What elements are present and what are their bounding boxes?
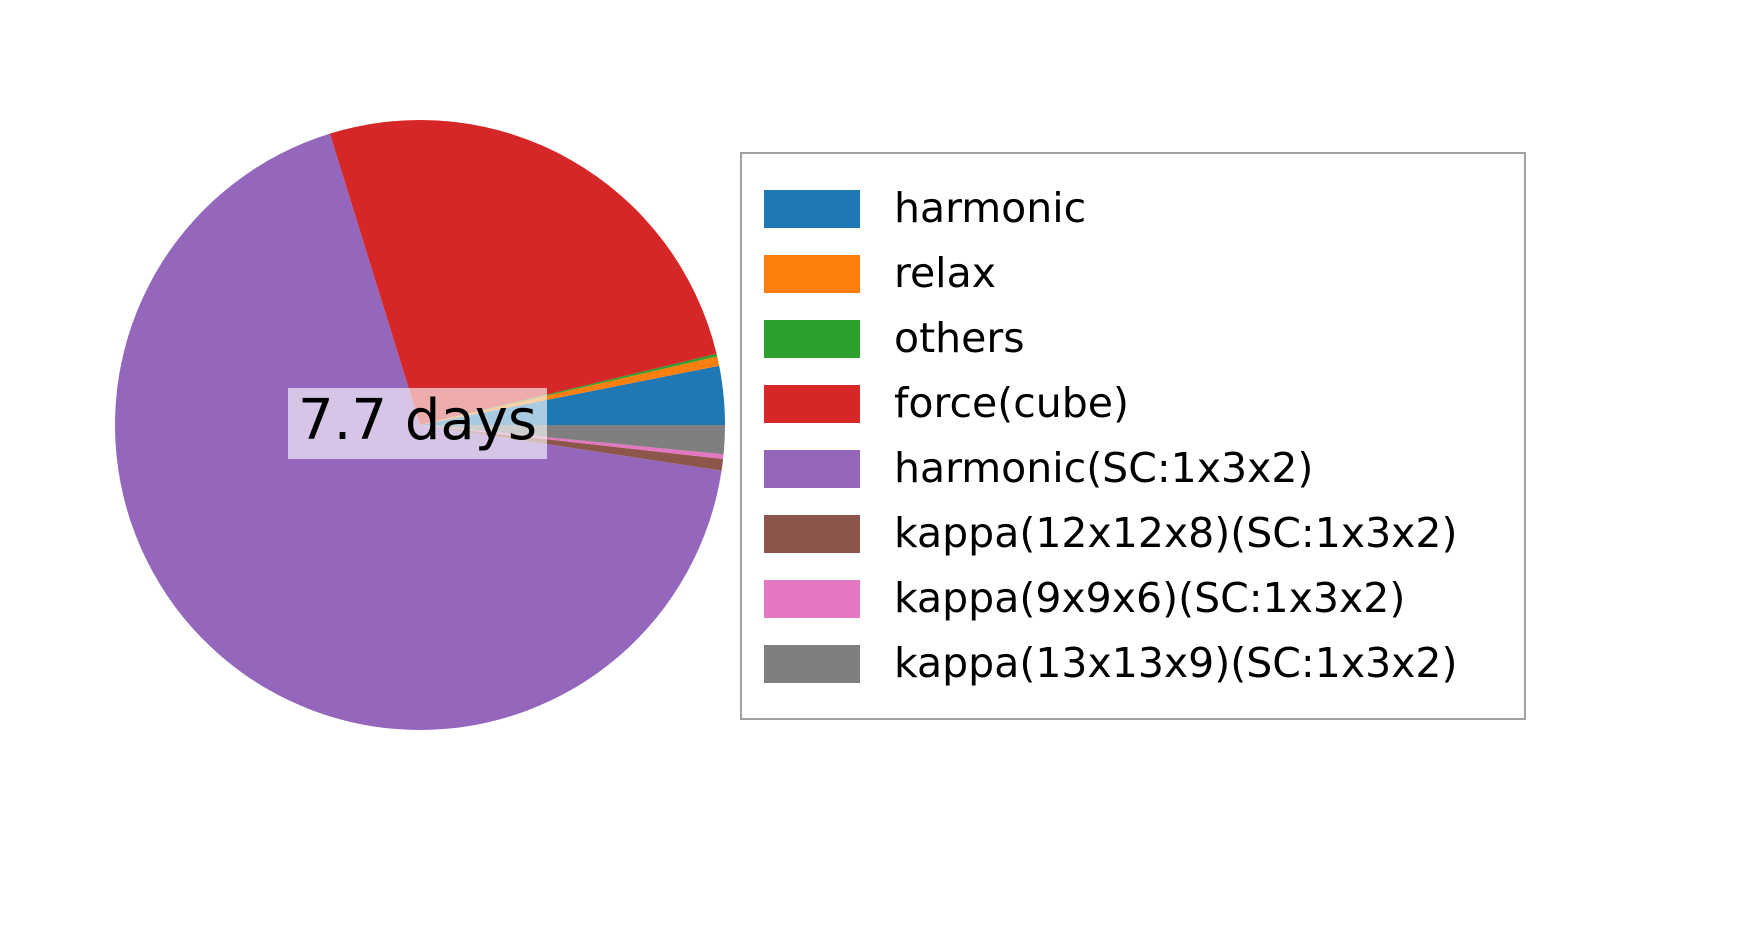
legend-swatch-force-cube [764,385,860,423]
legend-swatch-harmonic [764,190,860,228]
legend-swatch-kappa-9x9x6 [764,580,860,618]
legend-label-kappa-12x12x8: kappa(12x12x8)(SC:1x3x2) [894,513,1458,554]
legend-swatch-kappa-12x12x8 [764,515,860,553]
legend-swatch-harmonic-sc [764,450,860,488]
chart-legend: harmonic relax others force(cube) harmon… [740,152,1526,720]
pie-chart-figure: 7.7 days harmonic relax others force(cub… [0,0,1759,951]
legend-swatch-others [764,320,860,358]
legend-item-harmonic-sc[interactable]: harmonic(SC:1x3x2) [764,436,1498,501]
legend-label-others: others [894,318,1025,359]
legend-item-kappa-13x13x9[interactable]: kappa(13x13x9)(SC:1x3x2) [764,631,1498,696]
legend-item-relax[interactable]: relax [764,241,1498,306]
legend-label-harmonic-sc: harmonic(SC:1x3x2) [894,448,1313,489]
legend-swatch-kappa-13x13x9 [764,645,860,683]
legend-swatch-relax [764,255,860,293]
legend-label-harmonic: harmonic [894,188,1086,229]
legend-item-others[interactable]: others [764,306,1498,371]
legend-label-kappa-9x9x6: kappa(9x9x6)(SC:1x3x2) [894,578,1405,619]
legend-item-harmonic[interactable]: harmonic [764,176,1498,241]
legend-item-kappa-9x9x6[interactable]: kappa(9x9x6)(SC:1x3x2) [764,566,1498,631]
pie-plot-area [0,0,840,951]
pie-svg [0,0,840,951]
legend-label-kappa-13x13x9: kappa(13x13x9)(SC:1x3x2) [894,643,1458,684]
legend-label-force-cube: force(cube) [894,383,1129,424]
legend-label-relax: relax [894,253,996,294]
legend-item-kappa-12x12x8[interactable]: kappa(12x12x8)(SC:1x3x2) [764,501,1498,566]
pie-center-label: 7.7 days [288,388,547,459]
legend-item-force-cube[interactable]: force(cube) [764,371,1498,436]
